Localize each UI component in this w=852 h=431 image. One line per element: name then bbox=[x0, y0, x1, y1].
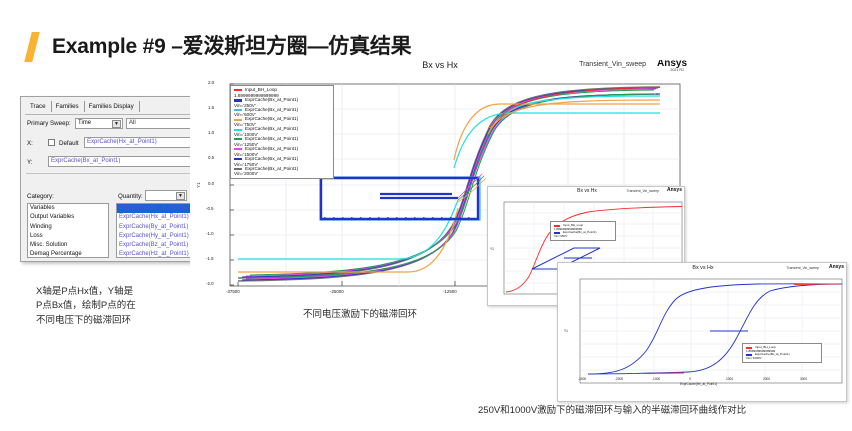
main-y-axis-label: Y1 bbox=[196, 182, 201, 188]
legend-label: ExprCache(Bx_at_Point1) bbox=[245, 147, 298, 152]
tab-divider bbox=[25, 114, 197, 115]
main-xtick-0: -37500 bbox=[226, 289, 240, 294]
small-xtick-2: -1000 bbox=[652, 377, 660, 381]
mid-chart-project: Transient_Vin_sweep bbox=[627, 189, 659, 193]
chevron-down-icon[interactable]: ▼ bbox=[176, 192, 185, 200]
quantity-item-4[interactable]: ExprCache(Bz_at_Point1) bbox=[117, 241, 195, 250]
mid-chart-legend[interactable]: Input_BH_Loop1.8999999999999999ExprCache… bbox=[550, 221, 616, 241]
ansys-logo-mid: Ansys bbox=[667, 188, 682, 193]
primary-sweep-all-field[interactable]: All bbox=[126, 118, 196, 129]
legend-swatch-icon bbox=[234, 138, 242, 140]
x-default-checkbox[interactable] bbox=[48, 139, 55, 146]
legend-swatch-icon bbox=[234, 129, 242, 131]
category-item-4[interactable]: Misc. Solution bbox=[28, 241, 108, 250]
main-ytick-3: 0.5 bbox=[208, 155, 214, 160]
y-row-label: Y: bbox=[27, 159, 33, 166]
quantity-listbox[interactable]: ExprCache(Bx_at_Point1)ExprCache(Hx_at_P… bbox=[116, 203, 196, 258]
legend-swatch-icon bbox=[234, 119, 242, 121]
mid-y-axis-label: Y1 bbox=[490, 247, 494, 251]
main-xtick-2: -12500 bbox=[443, 289, 457, 294]
legend-sublabel-8: Vin='2000V' bbox=[234, 171, 330, 176]
tab-trace[interactable]: Trace bbox=[26, 101, 52, 112]
x-expression-field[interactable]: ExprCache(Hx_at_Point1) bbox=[84, 137, 196, 148]
trace-dialog[interactable]: Trace Families Families Display Primary … bbox=[20, 96, 200, 262]
small-chart-panel[interactable]: Bx vs Hx Transient_Vin_sweep Ansys Y1 Ex… bbox=[557, 262, 847, 402]
x-row-label: X: bbox=[27, 140, 33, 147]
quantity-label: Quantity: bbox=[118, 193, 143, 200]
category-item-2[interactable]: Winding bbox=[28, 223, 108, 232]
main-chart-caption: 不同电压激励下的磁滞回环 bbox=[245, 308, 475, 322]
small-xtick-6: 3000 bbox=[800, 377, 807, 381]
dialog-caption: X轴是P点Hx值，Y轴是 P点Bx值，绘制P点的在 不同电压下的磁滞回环 bbox=[36, 285, 206, 328]
title-accent-bar bbox=[24, 32, 39, 62]
main-ytick-1: 1.5 bbox=[208, 105, 214, 110]
legend-swatch-icon bbox=[234, 148, 242, 150]
quantity-select[interactable]: ▼ bbox=[145, 190, 187, 201]
legend-label: ExprCache(Bx_at_Point1) bbox=[563, 231, 596, 234]
small-x-axis-label: ExprCache(Hx_at_Point1) bbox=[680, 382, 717, 386]
main-ytick-5: -0.5 bbox=[206, 206, 214, 211]
legend-sublabel-1: Vin='250V' bbox=[554, 234, 612, 238]
quantity-item-2[interactable]: ExprCache(By_at_Point1) bbox=[117, 223, 195, 232]
main-ytick-0: 2.0 bbox=[208, 80, 214, 85]
tab-families[interactable]: Families bbox=[52, 101, 85, 112]
legend-swatch-icon bbox=[234, 89, 242, 91]
y-expression-field[interactable]: ExprCache(Bx_at_Point1) bbox=[48, 156, 196, 167]
ansys-logo-small: Ansys bbox=[829, 265, 844, 270]
small-xtick-4: 1000 bbox=[726, 377, 733, 381]
main-ytick-2: 1.0 bbox=[208, 130, 214, 135]
primary-sweep-label: Primary Sweep: bbox=[27, 120, 71, 127]
legend-swatch-icon bbox=[234, 158, 242, 160]
quantity-item-5[interactable]: ExprCache(Hz_at_Point1) bbox=[117, 250, 195, 258]
quantity-item-3[interactable]: ExprCache(Hy_at_Point1) bbox=[117, 232, 195, 241]
primary-sweep-value: Time bbox=[78, 120, 91, 126]
category-item-0[interactable]: Variables bbox=[28, 204, 108, 213]
small-xtick-5: 2000 bbox=[763, 377, 770, 381]
small-chart-legend[interactable]: Input_BH_Loop1.8999999999999999ExprCache… bbox=[742, 343, 822, 363]
small-y-axis-label: Y1 bbox=[564, 329, 568, 333]
legend-label: ExprCache(Bx_at_Point1) bbox=[245, 98, 298, 103]
page-title: Example #9 –爱泼斯坦方圈—仿真结果 bbox=[52, 30, 412, 60]
category-item-5[interactable]: Demag Percentage bbox=[28, 250, 108, 258]
ansys-release: 2021 R1 bbox=[670, 69, 684, 73]
legend-swatch-icon bbox=[234, 99, 242, 102]
small-xtick-1: -2000 bbox=[615, 377, 623, 381]
slide-title-bar: Example #9 –爱泼斯坦方圈—仿真结果 bbox=[0, 12, 852, 52]
category-item-3[interactable]: Loss bbox=[28, 232, 108, 241]
small-xtick-3: 0 bbox=[689, 377, 691, 381]
primary-sweep-select[interactable]: Time ▼ bbox=[75, 118, 123, 129]
main-chart-legend[interactable]: Input_BH_Loop1.8999999999999999ExprCache… bbox=[230, 85, 334, 179]
main-ytick-8: -2.0 bbox=[206, 281, 214, 286]
tab-families-display[interactable]: Families Display bbox=[85, 101, 140, 112]
legend-swatch-icon bbox=[234, 109, 242, 111]
quantity-item-0[interactable]: ExprCache(Bx_at_Point1) bbox=[117, 204, 195, 213]
small-chart-project: Transient_Vin_sweep bbox=[787, 266, 819, 270]
main-chart-project: Transient_Vin_sweep bbox=[579, 61, 646, 68]
legend-swatch-icon bbox=[234, 168, 242, 170]
bottom-caption: 250V和1000V激励下的磁滞回环与输入的半磁滞回环曲线作对比 bbox=[478, 404, 850, 418]
x-default-label: Default bbox=[59, 140, 79, 147]
category-item-1[interactable]: Output Variables bbox=[28, 213, 108, 222]
category-label: Category: bbox=[27, 193, 54, 200]
dialog-divider bbox=[26, 173, 196, 174]
legend-label: ExprCache(Bx_at_Point1) bbox=[245, 157, 298, 162]
category-listbox[interactable]: VariablesOutput VariablesWindingLossMisc… bbox=[27, 203, 109, 258]
small-xtick-0: -3000 bbox=[578, 377, 586, 381]
main-xtick-1: -25000 bbox=[330, 289, 344, 294]
legend-sublabel-1: Vin='1000V' bbox=[746, 356, 818, 360]
main-ytick-7: -1.5 bbox=[206, 256, 214, 261]
chevron-down-icon[interactable]: ▼ bbox=[112, 120, 121, 128]
quantity-item-1[interactable]: ExprCache(Hx_at_Point1) bbox=[117, 213, 195, 222]
main-ytick-6: -1.0 bbox=[206, 231, 214, 236]
dialog-tab-strip[interactable]: Trace Families Families Display bbox=[26, 101, 140, 112]
main-ytick-4: 0.0 bbox=[208, 181, 214, 186]
